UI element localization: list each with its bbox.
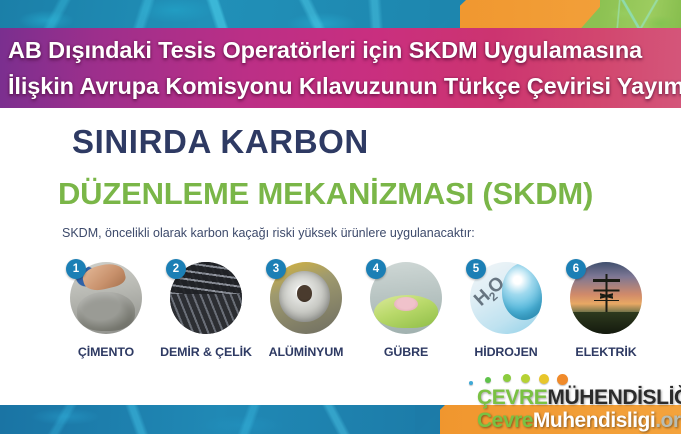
- product-label-fertilizer: GÜBRE: [384, 345, 428, 359]
- headline-line-2: İlişkin Avrupa Komisyonu Kılavuzunun Tür…: [8, 68, 675, 104]
- bottom-strip-blue-leaf-segment: [0, 405, 440, 434]
- logo-dot-6: [557, 374, 568, 385]
- product-item-cement: 1 ÇİMENTO: [56, 262, 156, 367]
- fertilizer-circle-wrap: 4: [370, 262, 442, 334]
- product-item-row: 1 ÇİMENTO 2 DEMİR & ÇELİK 3: [56, 262, 656, 367]
- product-item-fertilizer: 4 GÜBRE: [356, 262, 456, 367]
- heading-primary: SINIRDA KARBON: [72, 123, 369, 161]
- product-label-cement: ÇİMENTO: [78, 345, 134, 359]
- product-label-iron-steel: DEMİR & ÇELİK: [160, 345, 252, 359]
- cement-circle-wrap: 1: [70, 262, 142, 334]
- hydrogen-circle-wrap: 5 H2O: [470, 262, 542, 334]
- product-item-hydrogen: 5 H2O HİDROJEN: [456, 262, 556, 367]
- bottom-strip-blue-diagonal-edge: [415, 405, 445, 434]
- product-label-aluminium: ALÜMİNYUM: [269, 345, 344, 359]
- product-item-electricity: 6 ELEKTRİK: [556, 262, 656, 367]
- steel-circle-wrap: 2: [170, 262, 242, 334]
- product-label-electricity: ELEKTRİK: [575, 345, 636, 359]
- logo-cevre-text: ÇEVRE: [477, 386, 547, 409]
- aluminium-circle-wrap: 3: [270, 262, 342, 334]
- badge-number-3: 3: [266, 259, 286, 279]
- logo-text-row-2: CevreMuhendisligi.org: [477, 409, 681, 433]
- logo-url-cevre-text: Cevre: [477, 409, 533, 432]
- headline-line-1: AB Dışındaki Tesis Operatörleri için SKD…: [8, 32, 675, 68]
- badge-number-2: 2: [166, 259, 186, 279]
- logo-url-muhendisligi-text: Muhendisligi: [533, 409, 655, 432]
- site-logo[interactable]: ÇEVREMÜHENDİSLİĞİ CevreMuhendisligi.org: [463, 374, 675, 436]
- logo-dot-4: [521, 374, 530, 383]
- product-label-hydrogen: HİDROJEN: [474, 345, 537, 359]
- poster-root: AB Dışındaki Tesis Operatörleri için SKD…: [0, 0, 681, 444]
- logo-dot-5: [539, 374, 549, 384]
- badge-number-5: 5: [466, 259, 486, 279]
- badge-number-4: 4: [366, 259, 386, 279]
- logo-text-row-1: ÇEVREMÜHENDİSLİĞİ: [477, 386, 681, 410]
- logo-dot-3: [503, 374, 511, 382]
- electricity-circle-wrap: 6: [570, 262, 642, 334]
- product-item-aluminium: 3 ALÜMİNYUM: [256, 262, 356, 367]
- logo-url-tld-text: .org: [655, 409, 681, 432]
- logo-dot-1: [469, 381, 473, 385]
- subtitle-text: SKDM, öncelikli olarak karbon kaçağı ris…: [62, 226, 475, 240]
- logo-dot-2: [485, 377, 491, 383]
- headline-banner: AB Dışındaki Tesis Operatörleri için SKD…: [0, 28, 681, 108]
- badge-number-6: 6: [566, 259, 586, 279]
- logo-muhendisligi-text: MÜHENDİSLİĞİ: [547, 386, 681, 409]
- product-item-iron-steel: 2 DEMİR & ÇELİK: [156, 262, 256, 367]
- badge-number-1: 1: [66, 259, 86, 279]
- heading-secondary: DÜZENLEME MEKANİZMASI (SKDM): [58, 176, 593, 212]
